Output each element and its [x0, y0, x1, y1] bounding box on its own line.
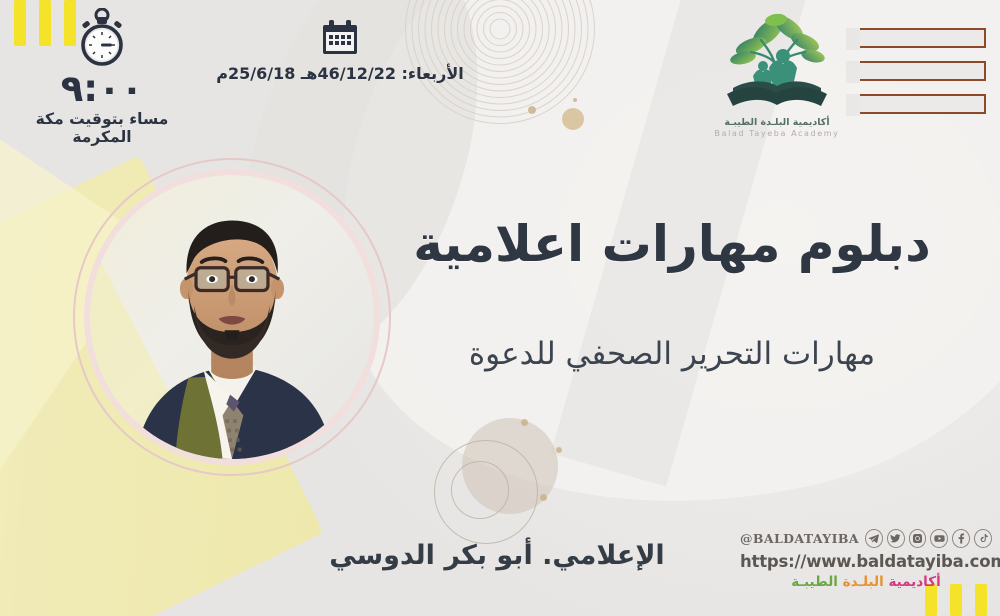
speaker-portrait-illustration [90, 175, 374, 459]
brand-word-3: الطيبـة [791, 574, 838, 590]
telegram-icon[interactable] [865, 529, 883, 548]
stopwatch-icon [74, 8, 130, 68]
event-timezone: مساء بتوقيت مكة المكرمة [22, 110, 182, 147]
tree-book-logo-icon [713, 6, 841, 116]
poster-canvas: ٩:٠٠ مساء بتوقيت مكة المكرمة الأربعاء: 4… [0, 0, 1000, 616]
bracket-lines-decor [860, 28, 1000, 127]
date-block: الأربعاء: 46/12/22هـ 25/6/18م [205, 18, 475, 83]
decor-dot [528, 106, 536, 114]
decor-dot-large [562, 108, 584, 130]
brand-name-colored: أكاديمية البلـدة الطيبـة [740, 574, 992, 590]
brand-word-1: أكاديمية [888, 574, 940, 590]
logo-english-text: Balad Tayeba Academy [702, 129, 852, 138]
decor-dot [573, 98, 577, 102]
decor-dot [556, 447, 562, 453]
decor-dot [540, 494, 547, 501]
tiktok-icon[interactable] [974, 529, 992, 548]
footer-contact: @BALDATAYIBA https://www.baldatayiba.com… [740, 529, 992, 590]
portrait-inner-ring [84, 169, 380, 465]
speaker-portrait-frame [73, 158, 391, 476]
twitter-icon[interactable] [887, 529, 905, 548]
page-title: دبلوم مهارات اعلامية [392, 216, 952, 272]
decor-dot [521, 419, 528, 426]
instagram-icon[interactable] [909, 529, 927, 548]
event-time: ٩:٠٠ [22, 70, 182, 109]
brand-word-2: البلـدة [843, 574, 884, 590]
facebook-icon[interactable] [952, 529, 970, 548]
youtube-icon[interactable] [930, 529, 948, 548]
social-handle: @BALDATAYIBA [740, 531, 859, 546]
social-handle-row: @BALDATAYIBA [740, 529, 992, 548]
time-block: ٩:٠٠ مساء بتوقيت مكة المكرمة [22, 8, 182, 146]
logo-arabic-text: أكاديمية البلـدة الطيبـة [702, 117, 852, 128]
calendar-icon [320, 18, 360, 58]
speaker-name: الإعلامي. أبو بكر الدوسي [322, 540, 672, 571]
event-date: الأربعاء: 46/12/22هـ 25/6/18م [205, 64, 475, 83]
decor-outline-circle-small [451, 461, 509, 519]
page-subtitle: مهارات التحرير الصحفي للدعوة [392, 336, 952, 373]
speaker-photo [90, 175, 374, 459]
academy-logo: أكاديمية البلـدة الطيبـة Balad Tayeba Ac… [702, 6, 852, 138]
website-url[interactable]: https://www.baldatayiba.com [740, 552, 992, 571]
